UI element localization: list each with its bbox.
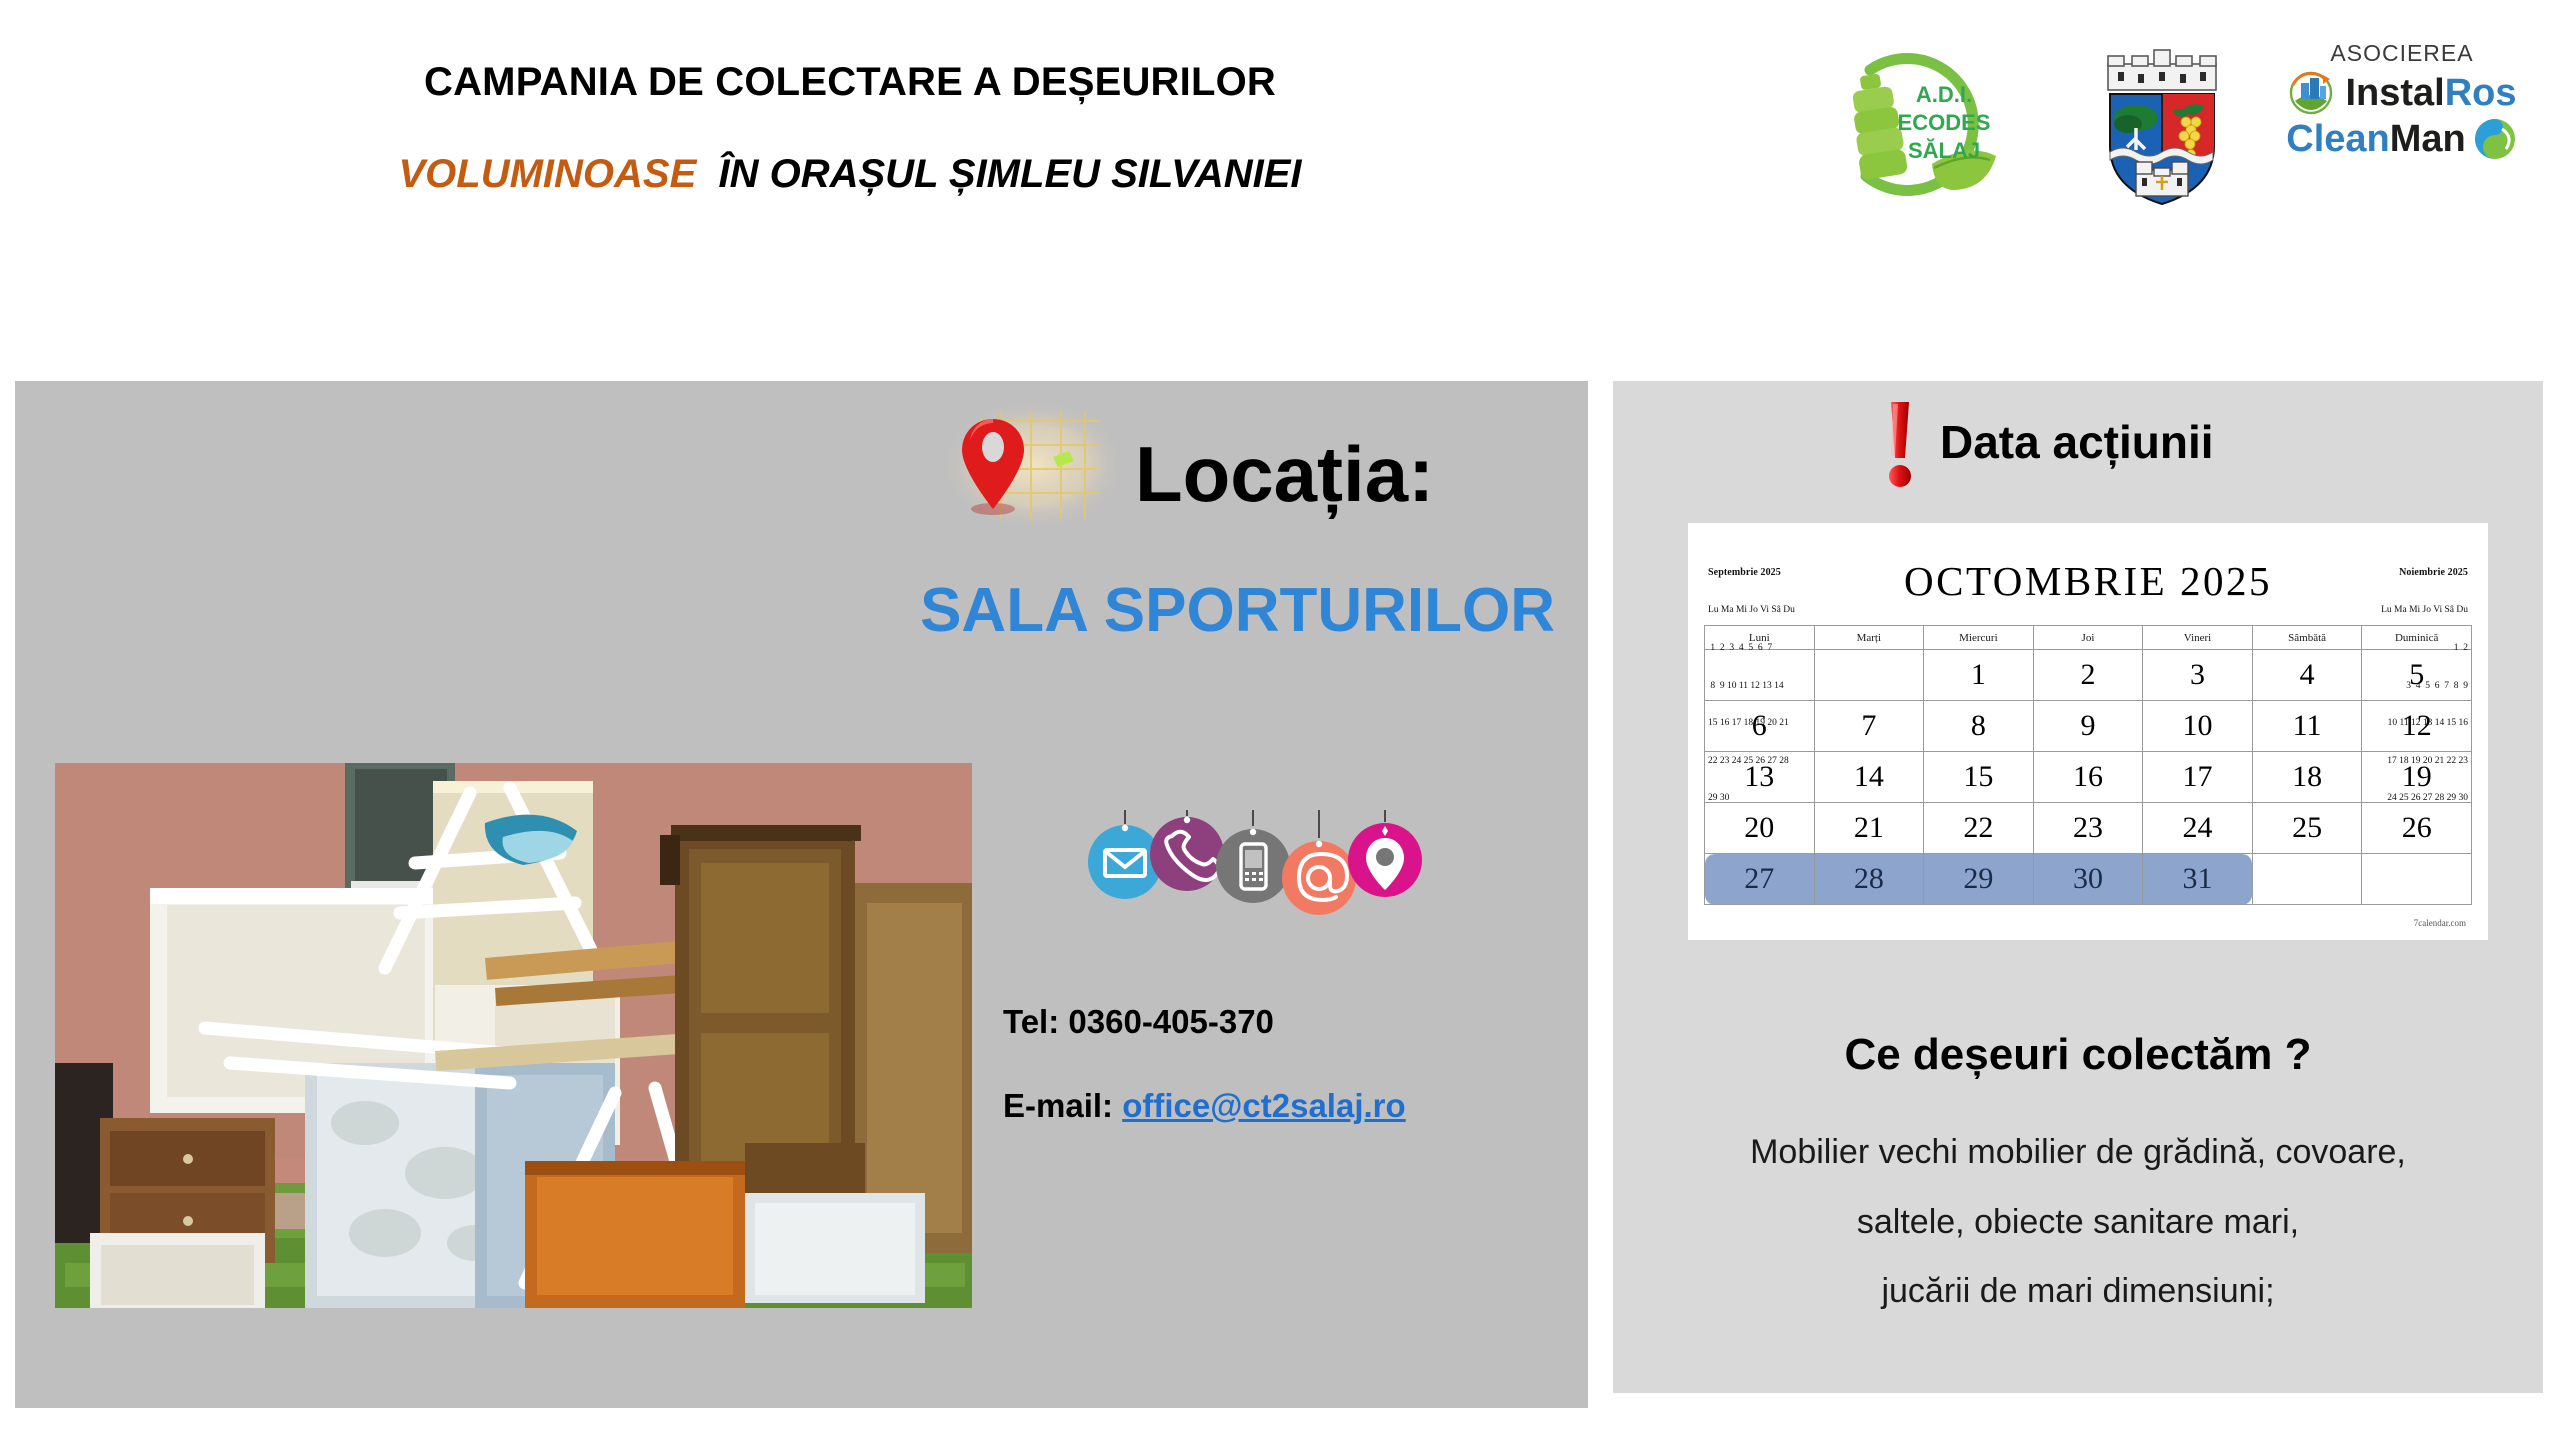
calendar-weekday: Marți	[1814, 626, 1924, 650]
mini-next-title: Noiembrie 2025	[2381, 566, 2468, 579]
calendar-day-empty	[1814, 650, 1924, 701]
contact-icons-group	[1075, 810, 1495, 930]
calendar-day: 14	[1814, 752, 1924, 803]
calendar-day: 25	[2252, 803, 2362, 854]
calendar-day: 5	[2362, 650, 2472, 701]
calendar-week-row: 20212223242526	[1705, 803, 2472, 854]
calendar-weekday: Miercuri	[1924, 626, 2034, 650]
calendar-day: 23	[2033, 803, 2143, 854]
ecodes-line2: ECODES	[1898, 110, 1991, 135]
contact-phone-label: Tel:	[1003, 1003, 1059, 1040]
ecodes-line3: SĂLAJ	[1908, 138, 1980, 163]
calendar-day: 27	[1705, 854, 1815, 905]
asociere-label: ASOCIEREA	[2252, 40, 2552, 67]
calendar-weekday: Sâmbătă	[2252, 626, 2362, 650]
campaign-title-line1: CAMPANIA DE COLECTARE A DEȘEURILOR	[0, 60, 1700, 104]
calendar-watermark: 7calendar.com	[2414, 918, 2466, 928]
mini-next-header: Lu Ma Mi Jo Vi Sâ Du	[2381, 604, 2468, 617]
instalros-logo: InstalRos	[2252, 71, 2552, 115]
location-venue: SALA SPORTURILOR	[920, 580, 1555, 642]
calendar-day: 19	[2362, 752, 2472, 803]
calendar-day-empty	[2252, 854, 2362, 905]
calendar-day: 4	[2252, 650, 2362, 701]
calendar-day: 31	[2143, 854, 2253, 905]
mini-prev-header: Lu Ma Mi Jo Vi Sâ Du	[1708, 604, 1795, 617]
calendar-day: 8	[1924, 701, 2034, 752]
poster-header: CAMPANIA DE COLECTARE A DEȘEURILOR VOLUM…	[0, 60, 1700, 197]
calendar-day: 20	[1705, 803, 1815, 854]
calendar-day: 26	[2362, 803, 2472, 854]
calendar-day: 28	[1814, 854, 1924, 905]
calendar-day-empty	[2362, 854, 2472, 905]
contact-phone: Tel: 0360-405-370	[1003, 1003, 1274, 1041]
waste-line: Mobilier vechi mobilier de grădină, covo…	[1613, 1118, 2543, 1188]
ecodes-line1: A.D.I.	[1916, 82, 1972, 107]
phone-tag-icon	[1150, 817, 1224, 891]
ecodes-salaj-logo: A.D.I. ECODES SĂLAJ	[1822, 44, 2022, 204]
calendar-week-row: 13141516171819	[1705, 752, 2472, 803]
waste-list: Mobilier vechi mobilier de grădină, covo…	[1613, 1118, 2543, 1327]
calendar-day: 7	[1814, 701, 1924, 752]
calendar-weekday: Vineri	[2143, 626, 2253, 650]
october-calendar: Septembrie 2025 Lu Ma Mi Jo Vi Sâ Du 1 2…	[1688, 523, 2488, 940]
calendar-day: 30	[2033, 854, 2143, 905]
waste-heading: Ce deșeuri colectăm ?	[1613, 1030, 2543, 1080]
calendar-weekday-row: Luni Marți Miercuri Joi Vineri Sâmbătă D…	[1705, 626, 2472, 650]
calendar-day-empty	[1705, 650, 1815, 701]
calendar-day: 21	[1814, 803, 1924, 854]
calendar-week-row: 12345	[1705, 650, 2472, 701]
instalros-wordmark: InstalRos	[2345, 74, 2516, 112]
map-pin-icon	[945, 405, 1115, 525]
calendar-day: 24	[2143, 803, 2253, 854]
contact-email: E-mail: office@ct2salaj.ro	[1003, 1087, 1406, 1125]
calendar-body: 1234567891011121314151617181920212223242…	[1705, 650, 2472, 905]
calendar-day: 17	[2143, 752, 2253, 803]
calendar-week-row: 6789101112	[1705, 701, 2472, 752]
calendar-day: 6	[1705, 701, 1815, 752]
calendar-weekday: Joi	[2033, 626, 2143, 650]
calendar-day: 29	[1924, 854, 2034, 905]
campaign-title-city: ÎN ORAȘUL ȘIMLEU SILVANIEI	[719, 152, 1302, 196]
calendar-day: 3	[2143, 650, 2253, 701]
contact-phone-value: 0360-405-370	[1068, 1003, 1274, 1040]
coat-of-arms-icon	[2092, 42, 2232, 207]
date-heading: Data acțiunii	[1940, 415, 2214, 469]
calendar-day: 12	[2362, 701, 2472, 752]
calendar-day: 10	[2143, 701, 2253, 752]
cleanman-wordmark: CleanMan	[2286, 120, 2465, 158]
calendar-day: 15	[1924, 752, 2034, 803]
poster-root: CAMPANIA DE COLECTARE A DEȘEURILOR VOLUM…	[0, 0, 2560, 1440]
waste-line: jucării de mari dimensiuni;	[1613, 1257, 2543, 1327]
calendar-header: Septembrie 2025 Lu Ma Mi Jo Vi Sâ Du 1 2…	[1704, 537, 2472, 625]
contact-email-label: E-mail:	[1003, 1087, 1113, 1124]
logo-row: A.D.I. ECODES SĂLAJ	[1822, 30, 2542, 210]
bulky-waste-photo	[55, 763, 972, 1308]
campaign-title-accent: VOLUMINOASE	[398, 152, 696, 196]
mobile-tag-icon	[1216, 829, 1290, 903]
calendar-week-row: 2728293031	[1705, 854, 2472, 905]
instalros-mark-icon	[2287, 71, 2339, 115]
location-label: Locația:	[1135, 435, 1434, 513]
calendar-day: 18	[2252, 752, 2362, 803]
cleanman-swirl-icon	[2472, 117, 2518, 161]
exclamation-mark-icon	[1875, 400, 1925, 490]
calendar-day: 2	[2033, 650, 2143, 701]
campaign-title-line2: VOLUMINOASE ÎN ORAȘUL ȘIMLEU SILVANIEI	[0, 152, 1700, 197]
contact-email-link[interactable]: office@ct2salaj.ro	[1122, 1087, 1405, 1124]
calendar-day: 22	[1924, 803, 2034, 854]
calendar-day: 1	[1924, 650, 2034, 701]
cleanman-logo: CleanMan	[2252, 117, 2552, 161]
calendar-grid: Luni Marți Miercuri Joi Vineri Sâmbătă D…	[1704, 625, 2472, 905]
calendar-month-title: OCTOMBRIE 2025	[1704, 557, 2472, 605]
location-tag-icon	[1348, 823, 1422, 897]
calendar-day: 16	[2033, 752, 2143, 803]
calendar-day: 9	[2033, 701, 2143, 752]
calendar-day: 11	[2252, 701, 2362, 752]
at-sign-tag-icon	[1282, 841, 1356, 915]
waste-line: saltele, obiecte sanitare mari,	[1613, 1188, 2543, 1258]
asociere-logo: ASOCIEREA InstalRos CleanMan	[2252, 40, 2552, 200]
calendar-day: 13	[1705, 752, 1815, 803]
